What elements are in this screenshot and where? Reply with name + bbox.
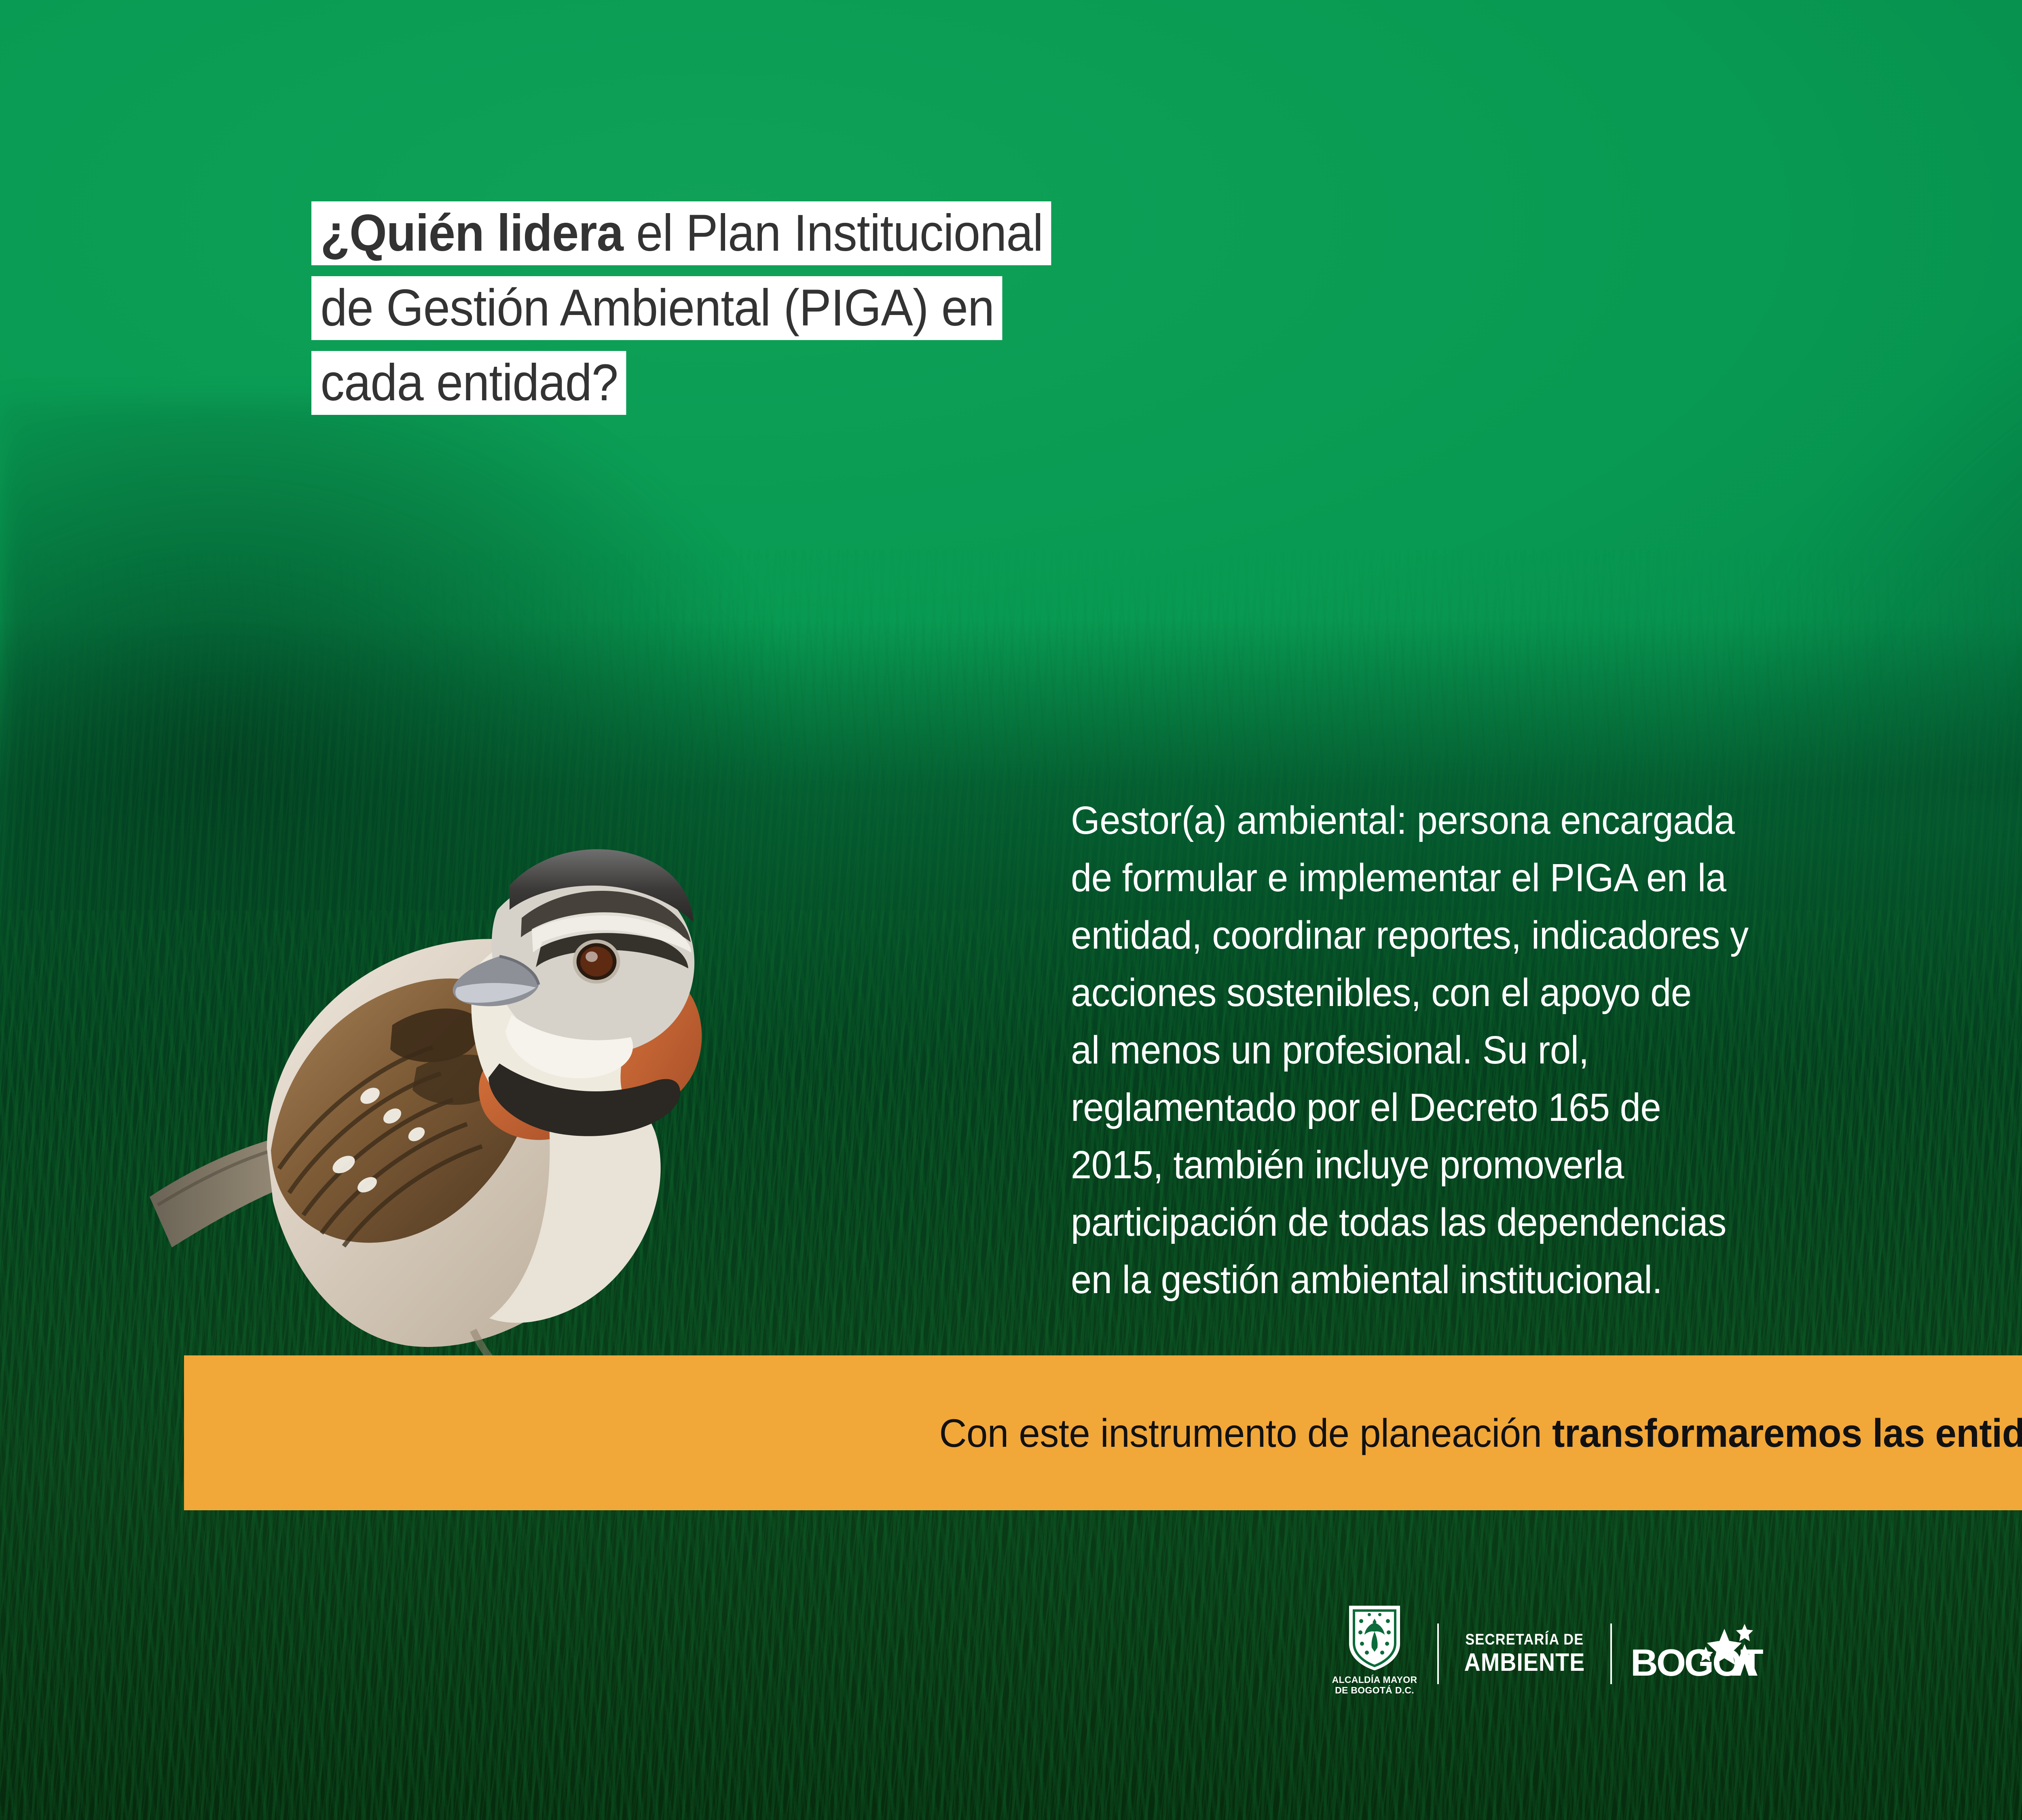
secretaria-ambiente-logo: SECRETARÍA DE AMBIENTE xyxy=(1457,1631,1592,1677)
body-line: de formular e implementar el PIGA en la xyxy=(1071,849,2022,907)
title-bold-phrase: ¿Quién lidera xyxy=(320,204,623,262)
title-row-1: ¿Quién lidera el Plan Institucional xyxy=(311,201,1107,265)
title-rest-1: el Plan Institucional xyxy=(623,204,1043,262)
body-line: en la gestión ambiental institucional. xyxy=(1071,1251,2022,1308)
title-row-2: de Gestión Ambiental (PIGA) en xyxy=(311,276,1107,340)
footer-logo-strip: ALCALDÍA MAYOR DE BOGOTÁ D.C. SECRETARÍA… xyxy=(1330,1601,1905,1706)
bogota-wordmark-logo: BOGOT xyxy=(1631,1621,1764,1686)
body-line: Gestor(a) ambiental: persona encargada xyxy=(1071,792,2022,849)
title-line-2: de Gestión Ambiental (PIGA) en xyxy=(311,276,1003,340)
title-line-1: ¿Quién lidera el Plan Institucional xyxy=(311,201,1051,265)
body-line: participación de todas las dependencias xyxy=(1071,1194,2022,1251)
shield-caption-line2: DE BOGOTÁ D.C. xyxy=(1330,1685,1419,1695)
body-line: 2015, también incluye promoverla xyxy=(1071,1136,2022,1194)
title-line-3: cada entidad? xyxy=(311,351,626,415)
body-text-column: Gestor(a) ambiental: persona encargada d… xyxy=(1071,792,2022,1308)
bogota-coat-of-arms-logo: ALCALDÍA MAYOR DE BOGOTÁ D.C. xyxy=(1330,1603,1419,1704)
secretaria-line2: AMBIENTE xyxy=(1464,1649,1585,1677)
banner-text-bold: transformaremos las entidades del Distri… xyxy=(1552,1411,2022,1455)
body-line: al menos un profesional. Su rol, xyxy=(1071,1021,2022,1079)
logo-divider-2 xyxy=(1610,1623,1612,1684)
sparrow-bird-photo xyxy=(133,659,756,1371)
banner-text-regular: Con este instrumento de planeación xyxy=(939,1411,1552,1455)
title-row-3: cada entidad? xyxy=(311,351,1107,415)
secretaria-line1: SECRETARÍA DE xyxy=(1464,1631,1585,1649)
page-title: ¿Quién lidera el Plan Institucional de G… xyxy=(311,201,1107,426)
logo-divider-1 xyxy=(1437,1623,1439,1684)
poster-canvas: ¿Quién lidera el Plan Institucional de G… xyxy=(0,0,2022,1820)
shield-caption-line1: ALCALDÍA MAYOR xyxy=(1330,1674,1419,1685)
banner-text: Con este instrumento de planeación trans… xyxy=(939,1411,2022,1455)
body-line: reglamentado por el Decreto 165 de xyxy=(1071,1079,2022,1136)
shield-caption: ALCALDÍA MAYOR DE BOGOTÁ D.C. xyxy=(1330,1674,1419,1695)
call-to-action-banner: Con este instrumento de planeación trans… xyxy=(184,1355,2022,1510)
body-line: entidad, coordinar reportes, indicadores… xyxy=(1071,907,2022,964)
body-line: acciones sostenibles, con el apoyo de xyxy=(1071,964,2022,1021)
